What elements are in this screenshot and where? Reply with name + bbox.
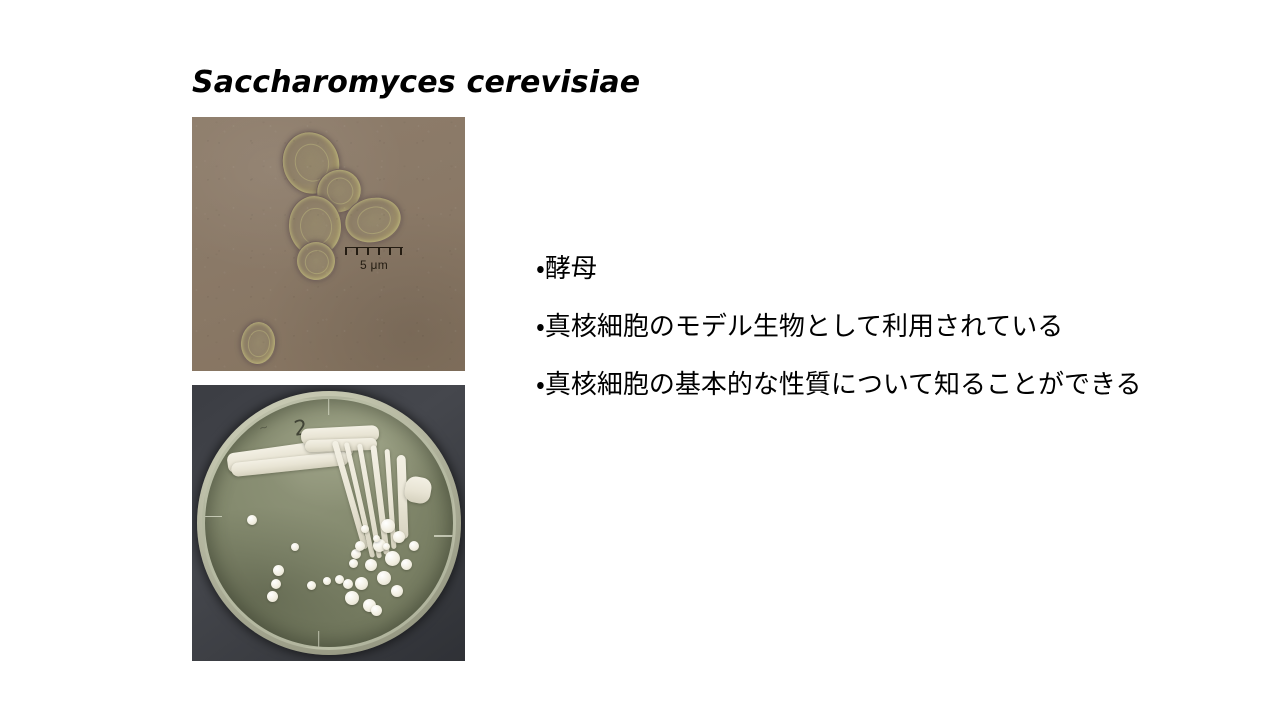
yeast-micrograph-image: 5 μm [192,117,465,371]
colony-isolated-2 [291,543,299,551]
colony-isolated-9 [349,559,358,568]
colony-isolated-13 [383,543,390,550]
scale-bar-label: 5 μm [345,258,403,272]
colony-isolated-6 [307,581,316,590]
streak-plate-image: 2 ~ [192,385,465,661]
bullet-item-1: ・酵母 [536,256,1136,282]
colony-mass-12 [409,541,419,551]
dish-tick-bottom [318,631,320,647]
scale-bar: 5 μm [345,247,403,272]
dish-tick-right [434,535,453,537]
colony-mass-14 [371,605,382,616]
colony-isolated-1 [247,515,257,525]
scale-bar-ticks [345,247,403,257]
bullet-item-3: ・真核細胞の基本的な性質について知ることができる [536,372,1136,398]
colony-mass-1 [381,519,395,533]
dish-tick-left [205,516,222,518]
colony-mass-11 [401,559,412,570]
colony-isolated-4 [271,579,281,589]
bullet-list: ・酵母 ・真核細胞のモデル生物として利用されている ・真核細胞の基本的な性質につ… [536,256,1136,398]
colony-isolated-10 [355,541,365,551]
colony-isolated-5 [267,591,278,602]
colony-isolated-7 [323,577,331,585]
page-title: Saccharomyces cerevisiae [192,66,640,99]
colony-mass-4 [385,551,400,566]
dish-tick-top [328,399,330,415]
colony-isolated-3 [273,565,284,576]
colony-isolated-8 [343,579,353,589]
yeast-cell-4 [238,319,278,367]
colony-mass-8 [391,585,403,597]
colony-mass-6 [377,571,391,585]
bullet-item-2: ・真核細胞のモデル生物として利用されている [536,314,1136,340]
colony-isolated-12 [373,535,380,542]
petri-dish-agar: 2 ~ [202,396,456,650]
colony-mass-2 [393,531,405,543]
micrograph-field: 5 μm [192,117,465,371]
colony-mass-9 [345,591,359,605]
colony-isolated-11 [361,525,369,533]
slide-canvas: Saccharomyces cerevisiae 5 μm [0,0,1280,720]
colony-mass-7 [355,577,368,590]
colony-mass-5 [365,559,377,571]
